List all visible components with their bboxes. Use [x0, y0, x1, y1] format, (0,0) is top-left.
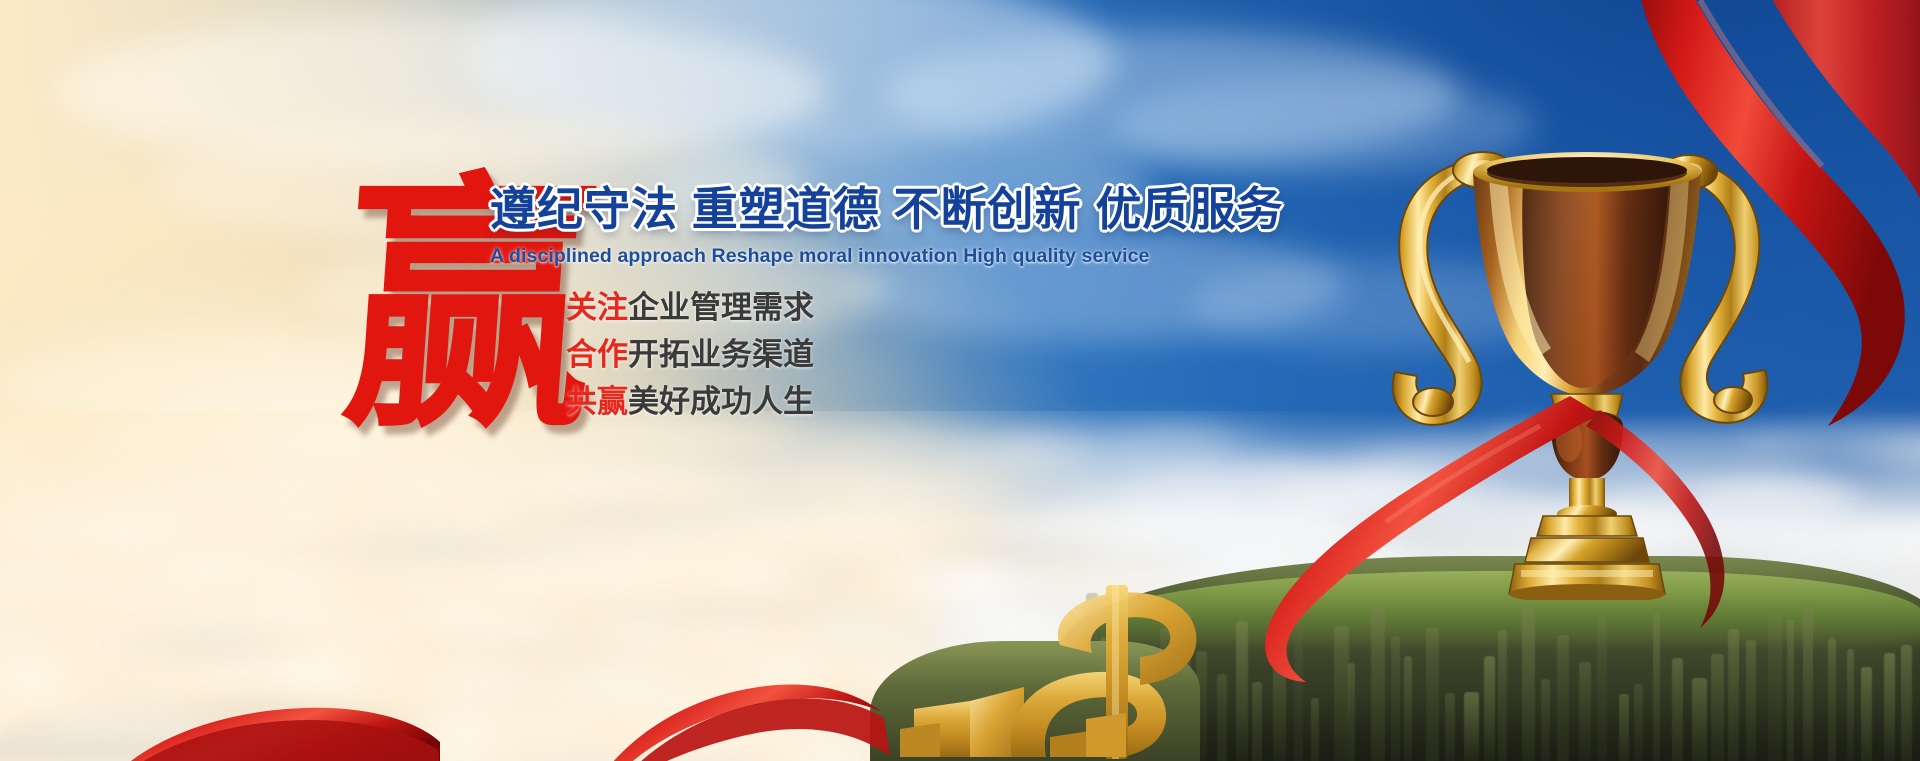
rock-striation [1445, 693, 1455, 761]
rock-striation [1404, 656, 1412, 761]
rock-striation [1426, 628, 1439, 761]
rock-striation [1901, 645, 1913, 761]
cloud-shadow [253, 528, 644, 568]
rock-striation [1557, 635, 1569, 761]
banner-text-block: 遵纪守法 重塑道德 不断创新 优质服务 A disciplined approa… [490, 185, 1210, 425]
rock-striation [1692, 678, 1707, 761]
bullet-text: 美好成功人生 [628, 384, 814, 419]
rock-striation [1672, 658, 1683, 761]
gold-trophy [1355, 100, 1785, 600]
rock-striation [1294, 600, 1303, 761]
banner-subtitle: A disciplined approach Reshape moral inn… [490, 245, 1210, 268]
banner-root: 赢 遵纪守法 重塑道德 不断创新 优质服务 A disciplined appr… [0, 0, 1920, 761]
rock-striation [1768, 613, 1782, 761]
rock-striation [1597, 618, 1606, 761]
rock-striation [1884, 653, 1895, 761]
gold-dollar-sign [900, 561, 1230, 761]
rock-striation [1541, 679, 1550, 761]
banner-bullet-list: 关注企业管理需求 合作开拓业务渠道 共赢美好成功人生 [490, 284, 1210, 425]
rock-striation [1847, 649, 1854, 761]
rock-striation [1861, 667, 1872, 761]
rock-striation [1498, 630, 1506, 761]
rock-striation [1711, 654, 1724, 761]
rock-striation [1619, 694, 1628, 761]
rock-striation [1252, 682, 1262, 761]
rock-striation [1348, 663, 1356, 761]
rock-striation [1728, 629, 1739, 761]
bullet-keyword: 关注 [566, 290, 628, 325]
rock-striation [1236, 621, 1248, 761]
cloud-shadow [100, 616, 327, 673]
bullet-item: 关注企业管理需求 [566, 284, 1210, 331]
bullet-item: 共赢美好成功人生 [566, 378, 1210, 425]
rock-striation [1828, 638, 1836, 761]
cloud-shadow [745, 551, 909, 600]
rock-striation [1634, 684, 1644, 761]
rock-striation [1653, 614, 1660, 761]
bullet-item: 合作开拓业务渠道 [566, 331, 1210, 378]
rock-striation [1273, 633, 1286, 761]
rock-striation [1391, 636, 1400, 761]
banner-headline: 遵纪守法 重塑道德 不断创新 优质服务 [490, 185, 1210, 234]
bullet-text: 企业管理需求 [628, 290, 814, 325]
rock-striation [1371, 607, 1385, 761]
bullet-keyword: 共赢 [566, 384, 628, 419]
rock-striation [1746, 640, 1756, 761]
bullet-keyword: 合作 [566, 337, 628, 372]
rock-striation [1464, 692, 1479, 761]
rock-striation [1787, 619, 1794, 761]
cloud-shadow [368, 621, 728, 672]
bullet-text: 开拓业务渠道 [628, 337, 814, 372]
rock-striation [1311, 698, 1319, 761]
rock-striation [1579, 662, 1591, 761]
rock-striation [1522, 608, 1536, 761]
rock-striation [1484, 656, 1495, 761]
rock-striation [1803, 601, 1813, 761]
